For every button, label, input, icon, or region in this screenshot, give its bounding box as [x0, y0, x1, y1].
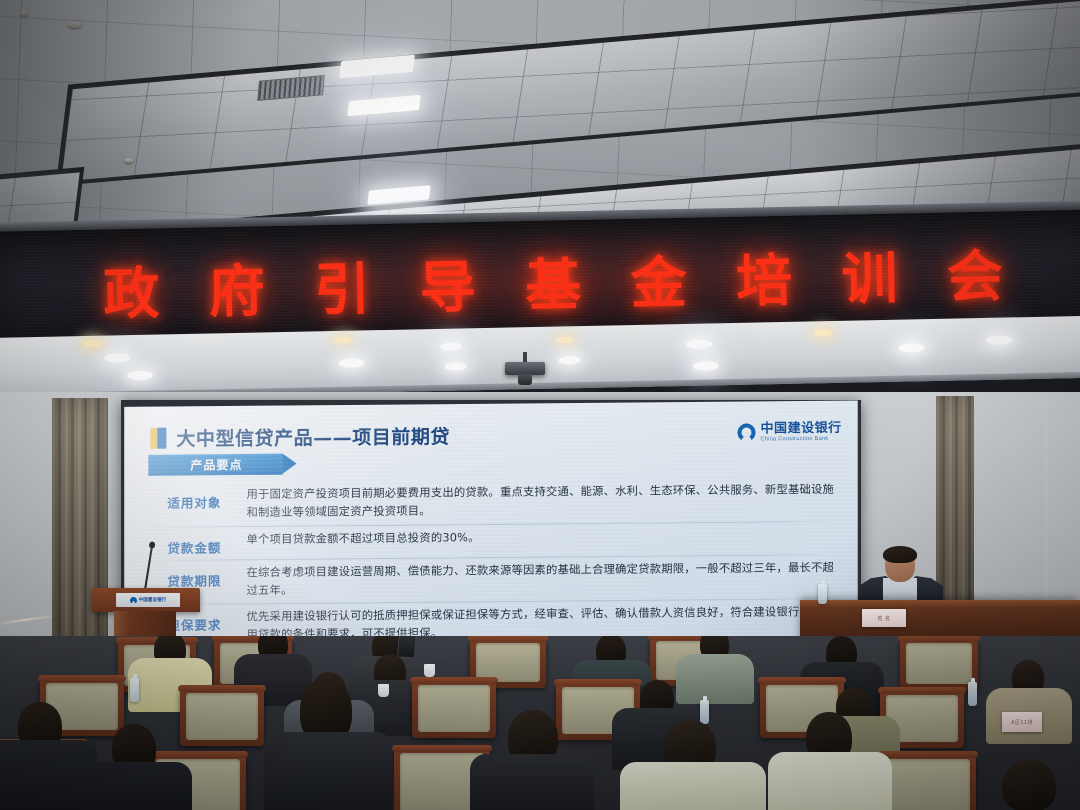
chair — [880, 754, 976, 810]
ccb-logo-icon: 中国建设银行 China Construction Bank — [737, 421, 841, 442]
slide-section-label: 产品要点 — [190, 456, 242, 473]
projector-icon — [505, 360, 545, 386]
ccb-logo-en: China Construction Bank — [761, 436, 842, 442]
red-decor-banner-left — [0, 396, 54, 664]
slide-row-label: 适用对象 — [142, 486, 246, 512]
slide-bullet-icon — [150, 427, 166, 448]
led-banner-text: 政 府 引 导 基 金 培 训 会 — [102, 232, 1003, 330]
led-char-8: 会 — [946, 231, 1004, 313]
downlight-icon — [440, 342, 462, 350]
downlight-icon — [814, 329, 832, 336]
led-char-7: 训 — [841, 233, 899, 315]
nameplate-text: 姓 名 — [877, 615, 890, 622]
lectern-logo-plate: 中国建设银行 — [116, 593, 180, 607]
chair — [412, 680, 496, 738]
person-body — [470, 754, 594, 810]
slide-row: 贷款金额 单个项目贷款金额不超过项目总投资的30%。 — [142, 525, 845, 556]
slide-row: 贷款期限 在综合考虑项目建设运营周期、偿债能力、还款来源等因素的基础上合理确定贷… — [142, 559, 845, 602]
led-char-6: 培 — [735, 235, 793, 317]
water-bottle — [700, 700, 709, 724]
person-head — [1002, 760, 1056, 810]
downlight-icon — [445, 362, 467, 370]
ccb-logo-text: 中国建设银行 China Construction Bank — [761, 421, 842, 442]
glasses-icon — [888, 560, 912, 566]
audience-seating: A区11排 — [0, 636, 1080, 810]
downlight-icon — [986, 335, 1012, 345]
seat-nameplate-text: A区11排 — [1011, 719, 1033, 726]
paper-cup — [424, 664, 435, 677]
projector-mount — [523, 352, 527, 362]
slide-row-label: 贷款期限 — [142, 564, 246, 590]
person-body — [76, 762, 192, 810]
water-bottle — [130, 678, 139, 702]
downlight-icon — [104, 353, 130, 363]
projector-lens — [518, 374, 532, 385]
downlight-icon — [693, 361, 719, 371]
slide-row-text: 用于固定资产投资项目前期必要费用支出的贷款。重点支持交通、能源、水利、生态环保、… — [247, 481, 846, 523]
downlight-icon — [338, 358, 364, 368]
water-bottle — [968, 682, 977, 706]
downlight-icon — [686, 339, 712, 349]
downlight-icon — [127, 371, 153, 381]
seat-nameplate: A区11排 — [1002, 712, 1042, 732]
ccb-logo-mark — [130, 597, 137, 604]
person-body — [264, 732, 392, 810]
water-bottle — [818, 584, 827, 604]
slide-section-pill: 产品要点 — [148, 454, 282, 476]
presentation-slide: 大中型信贷产品——项目前期贷 中国建设银行 China Construction… — [124, 401, 857, 670]
led-char-2: 引 — [313, 244, 371, 326]
slide-row-text: 在综合考虑项目建设运营周期、偿债能力、还款来源等因素的基础上合理确定贷款期限，一… — [247, 559, 846, 601]
slide-row-label: 贷款金额 — [142, 531, 246, 557]
slide-row-text: 单个项目贷款金额不超过项目总投资的30%。 — [247, 525, 846, 549]
nameplate: 姓 名 — [862, 609, 906, 627]
led-char-3: 导 — [419, 242, 477, 324]
downlight-icon — [334, 337, 352, 344]
led-char-1: 府 — [208, 246, 266, 328]
lectern-top: 中国建设银行 — [92, 588, 200, 612]
person-body — [768, 752, 892, 810]
chair — [900, 638, 978, 690]
paper-cup — [378, 684, 389, 697]
ccb-logo-mark — [737, 423, 755, 441]
downlight-icon — [82, 340, 102, 347]
slide-header: 大中型信贷产品——项目前期贷 中国建设银行 China Construction… — [150, 415, 841, 455]
slide-row: 适用对象 用于固定资产投资项目前期必要费用支出的贷款。重点支持交通、能源、水利、… — [142, 481, 845, 524]
downlight-icon — [556, 336, 574, 343]
slide-title: 大中型信贷产品——项目前期贷 — [176, 422, 450, 451]
smartphone-icon — [397, 636, 417, 659]
ccb-logo-cn: 中国建设银行 — [761, 421, 842, 435]
person-body — [620, 762, 766, 810]
led-char-0: 政 — [102, 248, 160, 330]
downlight-icon — [898, 343, 924, 353]
projection-screen: 大中型信贷产品——项目前期贷 中国建设银行 China Construction… — [121, 400, 861, 670]
person-body — [676, 654, 754, 704]
lectern-plate-text: 中国建设银行 — [139, 597, 167, 603]
chair — [180, 688, 264, 746]
led-char-4: 基 — [524, 240, 582, 322]
conference-hall-photo: 政 府 引 导 基 金 培 训 会 — [0, 0, 1080, 810]
led-char-5: 金 — [630, 237, 688, 319]
downlight-icon — [558, 356, 580, 364]
